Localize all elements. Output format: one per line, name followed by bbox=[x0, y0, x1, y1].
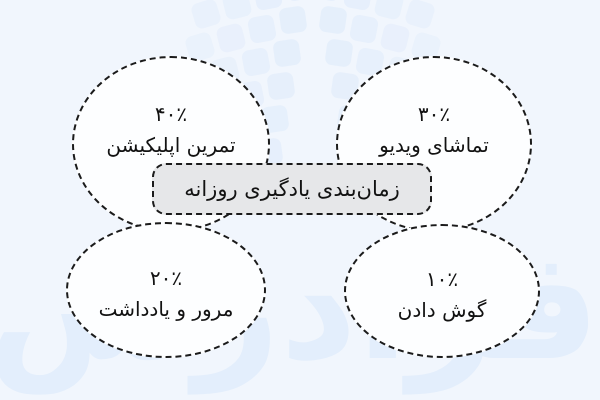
logo-tile bbox=[379, 22, 411, 54]
logo-tile bbox=[253, 0, 283, 11]
diagram-canvas: فرادرس ۴۰٪ تمرین اپلیکیشن ۳۰٪ تماشای وید… bbox=[0, 0, 600, 400]
logo-tile bbox=[221, 0, 253, 21]
node-percent: ۲۰٪ bbox=[99, 266, 234, 291]
node-percent: ۳۰٪ bbox=[379, 102, 489, 127]
center-node-label: زمان‌بندی یادگیری روزانه bbox=[184, 177, 400, 201]
logo-tile bbox=[404, 0, 436, 30]
logo-tile bbox=[343, 0, 373, 11]
node-content: ۳۰٪ تماشای ویدیو bbox=[379, 102, 489, 158]
logo-tile bbox=[272, 38, 301, 67]
node-label: مرور و یادداشت bbox=[99, 297, 234, 322]
node-percent: ۱۰٪ bbox=[398, 267, 487, 292]
logo-tile bbox=[278, 5, 307, 34]
logo-tile bbox=[318, 5, 347, 34]
logo-tile bbox=[312, 0, 341, 2]
node-morur-va-yaddasht[interactable]: ۲۰٪ مرور و یادداشت bbox=[66, 222, 266, 358]
logo-tile bbox=[266, 71, 295, 100]
node-gush-dadan[interactable]: ۱۰٪ گوش دادن bbox=[344, 224, 540, 358]
node-label: تماشای ویدیو bbox=[379, 133, 489, 158]
node-content: ۱۰٪ گوش دادن bbox=[398, 267, 487, 323]
node-percent: ۴۰٪ bbox=[106, 102, 235, 127]
node-label: گوش دادن bbox=[398, 298, 487, 323]
node-label: تمرین اپلیکیشن bbox=[106, 133, 235, 158]
logo-tile bbox=[349, 14, 379, 44]
center-node-daily-learning-schedule[interactable]: زمان‌بندی یادگیری روزانه bbox=[152, 163, 432, 215]
node-content: ۴۰٪ تمرین اپلیکیشن bbox=[106, 102, 235, 158]
logo-tile bbox=[324, 38, 353, 67]
logo-tile bbox=[284, 0, 313, 2]
node-content: ۲۰٪ مرور و یادداشت bbox=[99, 266, 234, 322]
logo-tile bbox=[241, 47, 271, 77]
logo-tile bbox=[373, 0, 405, 21]
logo-tile bbox=[247, 14, 277, 44]
logo-tile bbox=[190, 0, 222, 30]
logo-tile bbox=[215, 22, 247, 54]
